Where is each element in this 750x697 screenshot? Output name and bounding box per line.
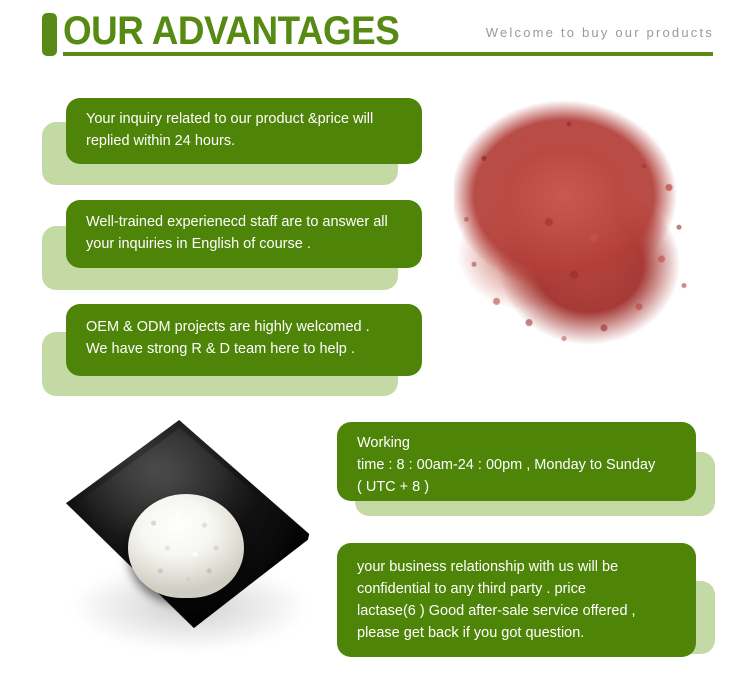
advantage-callout-reply-time: Your inquiry related to our product &pri… <box>0 90 430 195</box>
callout-text: Well-trained experienecd staff are to an… <box>86 211 406 255</box>
white-powder-mound <box>128 494 244 598</box>
callout-text: OEM & ODM projects are highly welcomed .… <box>86 316 406 360</box>
callout-text: your business relationship with us will … <box>357 556 687 644</box>
red-powder-pile-shape <box>454 100 704 365</box>
advantage-callout-oem-odm: OEM & ODM projects are highly welcomed .… <box>0 296 430 406</box>
header-tagline: Welcome to buy our products <box>486 25 714 40</box>
white-powder-dish-image <box>48 412 348 690</box>
white-powder-grain-texture <box>128 494 244 598</box>
page-title: OUR ADVANTAGES <box>63 7 399 55</box>
callout-text: Working time : 8 : 00am-24 : 00pm , Mond… <box>357 432 687 498</box>
title-accent-bar <box>42 13 57 56</box>
page-header: OUR ADVANTAGES Welcome to buy our produc… <box>0 0 750 70</box>
red-powder-grain-texture <box>454 100 704 365</box>
advantage-callout-trained-staff: Well-trained experienecd staff are to an… <box>0 192 430 300</box>
title-underline-divider <box>63 52 713 56</box>
red-powder-pile-image <box>434 82 744 404</box>
callout-text: Your inquiry related to our product &pri… <box>86 108 406 152</box>
